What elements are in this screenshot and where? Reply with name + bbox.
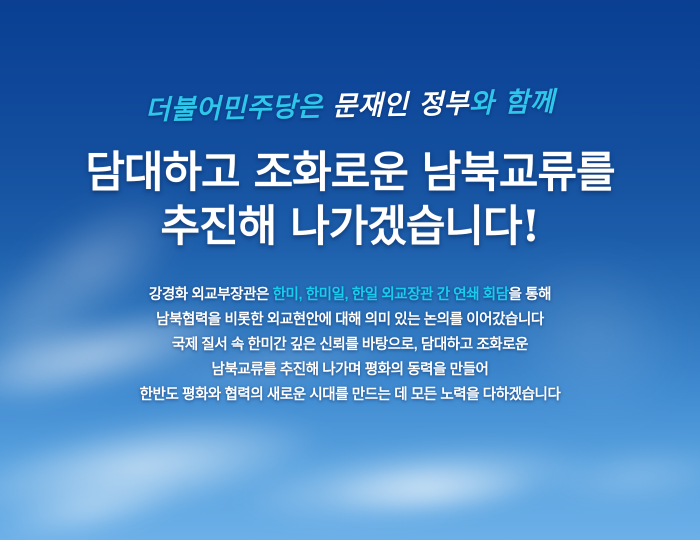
body-line-5-segment-1: 한반도 평화와 협력의 새로운 시대를 만드는 데 모든 노력을 다하겠습니다 [140,387,561,403]
body-line-4: 남북교류를 추진해 나가며 평화의 동력을 만들어 [0,358,700,383]
tagline-part-party: 더불어민주당은 [145,91,333,126]
body-line-3-segment-1: 국제 질서 속 한미간 깊은 신뢰를 바탕으로, 담대하고 조화로운 [172,337,528,353]
headline-line-1: 담대하고 조화로운 남북교류를 [0,146,700,200]
banner-content: 더불어민주당은 문재인 정부와 함께 담대하고 조화로운 남북교류를 추진해 나… [0,0,700,540]
tagline-part-together: 와 함께 [469,87,556,120]
body-line-4-segment-1: 남북교류를 추진해 나가며 평화의 동력을 만들어 [212,362,489,378]
body-line-1-segment-3: 을 통해 [509,287,551,303]
headline-line-2: 추진해 나가겠습니다! [0,200,700,254]
handwritten-tagline: 더불어민주당은 문재인 정부와 함께 [0,86,700,128]
tagline-part-government: 문재인 정부 [332,89,469,123]
body-line-1-segment-2: 한미, 한미일, 한일 외교장관 간 연쇄 회담 [273,287,509,303]
sky-banner: 더불어민주당은 문재인 정부와 함께 담대하고 조화로운 남북교류를 추진해 나… [0,0,700,540]
body-line-1-segment-1: 강경화 외교부장관은 [149,287,273,303]
body-copy: 강경화 외교부장관은 한미, 한미일, 한일 외교장관 간 연쇄 회담을 통해남… [0,283,700,408]
body-line-5: 한반도 평화와 협력의 새로운 시대를 만드는 데 모든 노력을 다하겠습니다 [0,383,700,408]
headline: 담대하고 조화로운 남북교류를 추진해 나가겠습니다! [0,146,700,254]
body-line-1: 강경화 외교부장관은 한미, 한미일, 한일 외교장관 간 연쇄 회담을 통해 [0,283,700,308]
body-line-3: 국제 질서 속 한미간 깊은 신뢰를 바탕으로, 담대하고 조화로운 [0,333,700,358]
body-line-2-segment-1: 남북협력을 비롯한 외교현안에 대해 의미 있는 논의를 이어갔습니다 [156,312,544,328]
body-line-2: 남북협력을 비롯한 외교현안에 대해 의미 있는 논의를 이어갔습니다 [0,308,700,333]
